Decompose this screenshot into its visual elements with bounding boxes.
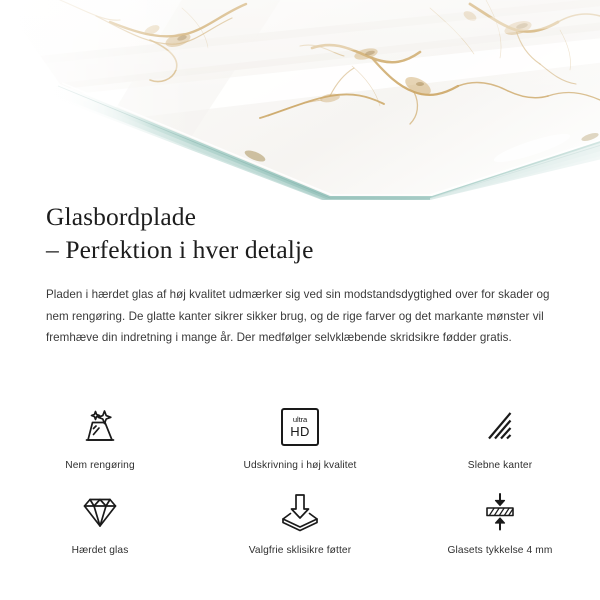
product-description-page: Glasbordplade – Perfektion i hver detalj… xyxy=(0,0,600,600)
hero-product-image xyxy=(0,0,600,200)
feature-label: Hærdet glas xyxy=(72,544,129,557)
beveled-edge-icon xyxy=(480,404,520,450)
feature-item-easy-cleaning: Nem rengøring xyxy=(0,400,200,485)
ultra-hd-badge: ultra HD xyxy=(281,408,319,446)
feature-grid: Nem rengøring ultra HD Udskrivning i høj… xyxy=(0,400,600,570)
feature-item-ultra-hd: ultra HD Udskrivning i høj kvalitet xyxy=(200,400,400,485)
ultra-hd-badge-bottom: HD xyxy=(290,425,309,438)
ultra-hd-icon: ultra HD xyxy=(281,404,319,450)
page-title-line-1: Glasbordplade xyxy=(46,200,554,233)
feature-item-polished-edges: Slebne kanter xyxy=(400,400,600,485)
sparkle-sponge-icon xyxy=(78,404,122,450)
glass-plate-illustration xyxy=(0,0,600,200)
feature-label: Nem rengøring xyxy=(65,459,135,472)
feature-label: Valgfrie sklisikre føtter xyxy=(249,544,351,557)
description-paragraph: Pladen i hærdet glas af høj kvalitet udm… xyxy=(0,266,600,349)
text-content: Glasbordplade – Perfektion i hver detalj… xyxy=(0,200,600,349)
page-title: Glasbordplade – Perfektion i hver detalj… xyxy=(0,200,600,266)
anti-slip-feet-icon xyxy=(279,489,321,535)
feature-item-anti-slip-feet: Valgfrie sklisikre føtter xyxy=(200,485,400,570)
page-title-line-2: – Perfektion i hver detalje xyxy=(46,233,554,266)
thickness-arrows-icon xyxy=(479,489,521,535)
feature-label: Glasets tykkelse 4 mm xyxy=(448,544,553,557)
feature-item-glass-thickness: Glasets tykkelse 4 mm xyxy=(400,485,600,570)
diamond-icon xyxy=(79,489,121,535)
feature-label: Slebne kanter xyxy=(468,459,532,472)
feature-item-tempered-glass: Hærdet glas xyxy=(0,485,200,570)
ultra-hd-badge-top: ultra xyxy=(293,416,307,424)
feature-label: Udskrivning i høj kvalitet xyxy=(244,459,357,472)
